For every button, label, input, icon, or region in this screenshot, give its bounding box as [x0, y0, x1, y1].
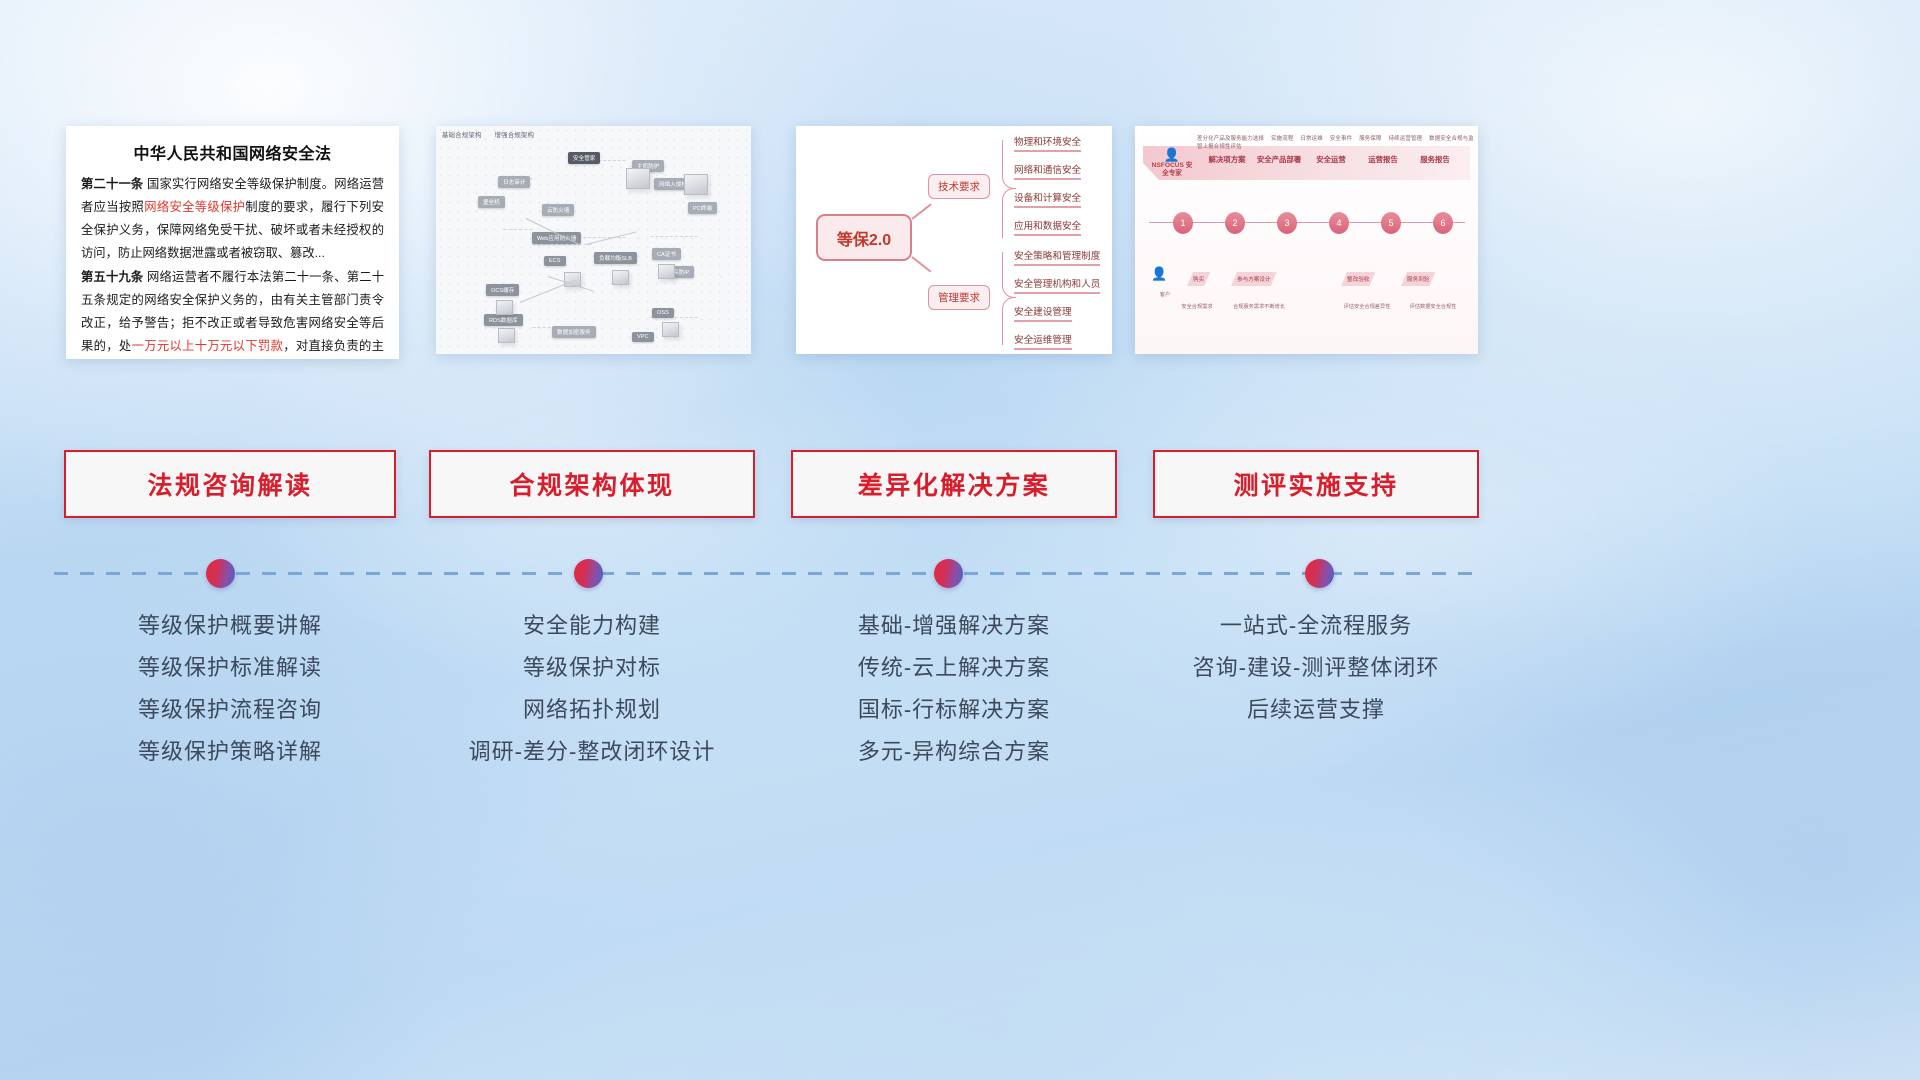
- nsfocus-step-1: 1: [1173, 212, 1193, 234]
- diagram-header-labels: 基础合规架构增强合规架构: [442, 130, 547, 139]
- diagram-node-baoleiji: 堡垒机: [478, 196, 505, 208]
- diagram-cube-ca: [658, 264, 675, 279]
- nsfocus-foot-left-1: 合规服务需求不断增长: [1227, 304, 1291, 311]
- law-text-body: 中华人民共和国网络安全法 第二十一条 国家实行网络安全等级保护制度。网络运营者应…: [66, 126, 399, 359]
- mindmap-leaf-policy: 安全策略和管理制度: [1014, 248, 1100, 266]
- law-article-59-highlight-1: 一万元以上十万元以下罚款: [132, 339, 284, 353]
- diagram-node-shujujiami: 数据加密服务: [552, 326, 596, 338]
- diagram-node-ecs: ECS: [544, 256, 566, 266]
- nsfocus-top-label-2: 日常运维: [1300, 136, 1322, 142]
- card-mindmap-dengbao[interactable]: 等保2.0 技术要求 管理要求 物理和环境安全 网络和通信安全 设备和计算安全 …: [796, 126, 1112, 354]
- diagram-node-rds: RDS数据库: [484, 314, 523, 326]
- mindmap-canvas: 等保2.0 技术要求 管理要求 物理和环境安全 网络和通信安全 设备和计算安全 …: [796, 126, 1112, 354]
- law-paragraph-21: 第二十一条 国家实行网络安全等级保护制度。网络运营者应当按照网络安全等级保护制度…: [81, 173, 384, 265]
- service-column-4: 一站式-全流程服务 咨询-建设-测评整体闭环 后续运营支撑: [1153, 605, 1479, 731]
- banner-label-3: 差异化解决方案: [858, 466, 1051, 502]
- timeline: [54, 559, 1479, 589]
- nsfocus-step-6: 6: [1433, 212, 1453, 234]
- mindmap-leaf-physical: 物理和环境安全: [1014, 134, 1081, 152]
- list-item: 调研-差分-整改闭环设计: [429, 731, 755, 773]
- nsfocus-timeline-axis: [1149, 222, 1465, 223]
- list-item: 咨询-建设-测评整体闭环: [1153, 647, 1479, 689]
- nsfocus-top-label-0: 差分化产品及服务能力选择: [1197, 136, 1264, 142]
- list-item: 等级保护流程咨询: [64, 689, 396, 731]
- law-article-21-label: 第二十一条: [81, 177, 143, 191]
- diagram-cube-server-1: [626, 168, 650, 189]
- architecture-diagram: 基础合规架构增强合规架构 安全管家 日志审计 堡垒机 云防火墙 网络入侵检测 W…: [436, 126, 751, 354]
- nsfocus-step-4: 4: [1329, 212, 1349, 234]
- diagram-header-basic: 基础合规架构: [442, 132, 482, 139]
- list-item: 安全能力构建: [429, 605, 755, 647]
- nsfocus-foot-right-0: 评估安全合规差异性: [1335, 304, 1399, 311]
- diagram-header-enhanced: 增强合规架构: [495, 132, 535, 139]
- nsfocus-stage-headers: 解决项方案安全产品部署安全运营运营报告服务报告: [1201, 154, 1461, 165]
- list-item: 基础-增强解决方案: [791, 605, 1117, 647]
- diagram-node-rizhishenji: 日志审计: [498, 176, 530, 188]
- expert-person-icon: 👤: [1149, 148, 1195, 162]
- banner-label-1: 法规咨询解读: [147, 466, 312, 502]
- banner-differentiated-solution[interactable]: 差异化解决方案: [791, 450, 1117, 518]
- list-item: 国标-行标解决方案: [791, 689, 1117, 731]
- law-article-59-label: 第五十九条: [81, 270, 143, 284]
- diagram-cube-server-2: [684, 174, 708, 195]
- diagram-node-pcduan: PC终端: [688, 202, 717, 214]
- timeline-dot-1[interactable]: [206, 559, 235, 588]
- list-item: 等级保护标准解读: [64, 647, 396, 689]
- timeline-dot-3[interactable]: [934, 559, 963, 588]
- nsfocus-step-2: 2: [1225, 212, 1245, 234]
- banner-row: 法规咨询解读 合规架构体现 差异化解决方案 测评实施支持: [0, 450, 1920, 518]
- nsfocus-top-label-3: 安全事件: [1330, 136, 1352, 142]
- diagram-node-ocs: OCS缓存: [486, 284, 519, 296]
- timeline-dot-2[interactable]: [574, 559, 603, 588]
- banner-compliance-architecture[interactable]: 合规架构体现: [429, 450, 755, 518]
- nsfocus-tag-deliver: 服务到验: [1401, 272, 1435, 286]
- diagram-cube-rds: [498, 328, 515, 343]
- mindmap-branch-management: 管理要求: [928, 285, 990, 310]
- nsfocus-tag-buy: 购买: [1187, 272, 1210, 286]
- diagram-node-vpc: VPC: [632, 332, 654, 342]
- nsfocus-step-3: 3: [1277, 212, 1297, 234]
- list-item: 后续运营支撑: [1153, 689, 1479, 731]
- nsfocus-step-5: 5: [1381, 212, 1401, 234]
- list-item: 一站式-全流程服务: [1153, 605, 1479, 647]
- law-paragraph-59: 第五十九条 网络运营者不履行本法第二十一条、第二十五条规定的网络安全保护义务的，…: [81, 266, 384, 359]
- timeline-dashed-line: [54, 572, 1479, 575]
- list-item: 多元-异构综合方案: [791, 731, 1117, 773]
- diagram-node-slb: 负载均衡SLB: [594, 252, 637, 264]
- card-compliance-architecture[interactable]: 基础合规架构增强合规架构 安全管家 日志审计 堡垒机 云防火墙 网络入侵检测 W…: [436, 126, 751, 354]
- diagram-cube-oss: [662, 322, 679, 337]
- nsfocus-top-labels: 差分化产品及服务能力选择实施流程日常运维安全事件服务保障持续运营管理数据安全合规…: [1197, 134, 1478, 150]
- mindmap-leaf-device: 设备和计算安全: [1014, 190, 1081, 208]
- mindmap-leaf-ops: 安全运维管理: [1014, 332, 1072, 350]
- mindmap-leaf-org: 安全管理机构和人员: [1014, 276, 1100, 294]
- nsfocus-stage-2: 安全运营: [1305, 154, 1357, 165]
- diagram-node-yunfanghuoqiang: 云防火墙: [542, 204, 574, 216]
- nsfocus-foot-left-0: 安全合规需求: [1169, 304, 1225, 311]
- list-item: 网络拓扑规划: [429, 689, 755, 731]
- nsfocus-logo-name: NSFOCUS: [1152, 162, 1184, 169]
- diagram-node-anquanguanjia: 安全管家: [568, 152, 600, 164]
- service-column-1: 等级保护概要讲解 等级保护标准解读 等级保护流程咨询 等级保护策略详解: [64, 605, 396, 773]
- banner-assessment-support[interactable]: 测评实施支持: [1153, 450, 1479, 518]
- timeline-dot-4[interactable]: [1305, 559, 1334, 588]
- nsfocus-top-label-4: 服务保障: [1359, 136, 1381, 142]
- nsfocus-tag-design: 参与方案设计: [1231, 272, 1277, 286]
- diagram-node-ca: CA证书: [652, 248, 681, 260]
- mindmap-leaf-build: 安全建设管理: [1014, 304, 1072, 322]
- mindmap-branch-technical: 技术要求: [928, 174, 990, 199]
- nsfocus-logo: 👤 NSFOCUS 安全专家: [1149, 148, 1195, 178]
- nsfocus-tag-accept: 整改验收: [1341, 272, 1375, 286]
- banner-label-2: 合规架构体现: [509, 466, 674, 502]
- list-item: 传统-云上解决方案: [791, 647, 1117, 689]
- card-nsfocus-service-flow[interactable]: 差分化产品及服务能力选择实施流程日常运维安全事件服务保障持续运营管理数据安全合规…: [1135, 126, 1478, 354]
- nsfocus-top-label-1: 实施流程: [1271, 136, 1293, 142]
- nsfocus-stage-1: 安全产品部署: [1253, 154, 1305, 165]
- diagram-cube-ocs: [496, 300, 513, 315]
- mindmap-leaf-app: 应用和数据安全: [1014, 218, 1081, 236]
- image-card-row: 中华人民共和国网络安全法 第二十一条 国家实行网络安全等级保护制度。网络运营者应…: [0, 126, 1920, 364]
- list-item: 等级保护策略详解: [64, 731, 396, 773]
- nsfocus-stage-0: 解决项方案: [1201, 154, 1253, 165]
- nsfocus-stage-3: 运营报告: [1357, 154, 1409, 165]
- diagram-node-oss: OSS: [652, 308, 674, 318]
- list-item: 等级保护概要讲解: [64, 605, 396, 647]
- mindmap-leaf-network: 网络和通信安全: [1014, 162, 1081, 180]
- mindmap-conn-tech: [912, 203, 932, 219]
- nsfocus-stage-4: 服务报告: [1409, 154, 1461, 165]
- banner-label-4: 测评实施支持: [1233, 466, 1398, 502]
- nsfocus-customer-label: 客户: [1145, 292, 1185, 299]
- card-cybersecurity-law[interactable]: 中华人民共和国网络安全法 第二十一条 国家实行网络安全等级保护制度。网络运营者应…: [66, 126, 399, 359]
- nsfocus-diagram: 差分化产品及服务能力选择实施流程日常运维安全事件服务保障持续运营管理数据安全合规…: [1135, 126, 1478, 354]
- banner-regulation-consulting[interactable]: 法规咨询解读: [64, 450, 396, 518]
- nsfocus-foot-right-1: 评估数据安全合规性: [1401, 304, 1465, 311]
- mindmap-core-node: 等保2.0: [816, 214, 912, 261]
- list-item: 等级保护对标: [429, 647, 755, 689]
- law-title: 中华人民共和国网络安全法: [81, 140, 384, 164]
- law-article-21-highlight: 网络安全等级保护: [144, 200, 245, 214]
- customer-person-icon: 👤: [1151, 266, 1167, 282]
- nsfocus-top-label-5: 持续运营管理: [1389, 136, 1423, 142]
- service-column-2: 安全能力构建 等级保护对标 网络拓扑规划 调研-差分-整改闭环设计: [429, 605, 755, 773]
- service-column-3: 基础-增强解决方案 传统-云上解决方案 国标-行标解决方案 多元-异构综合方案: [791, 605, 1117, 773]
- mindmap-conn-mgmt: [912, 256, 932, 272]
- diagram-cube-slb: [612, 270, 629, 285]
